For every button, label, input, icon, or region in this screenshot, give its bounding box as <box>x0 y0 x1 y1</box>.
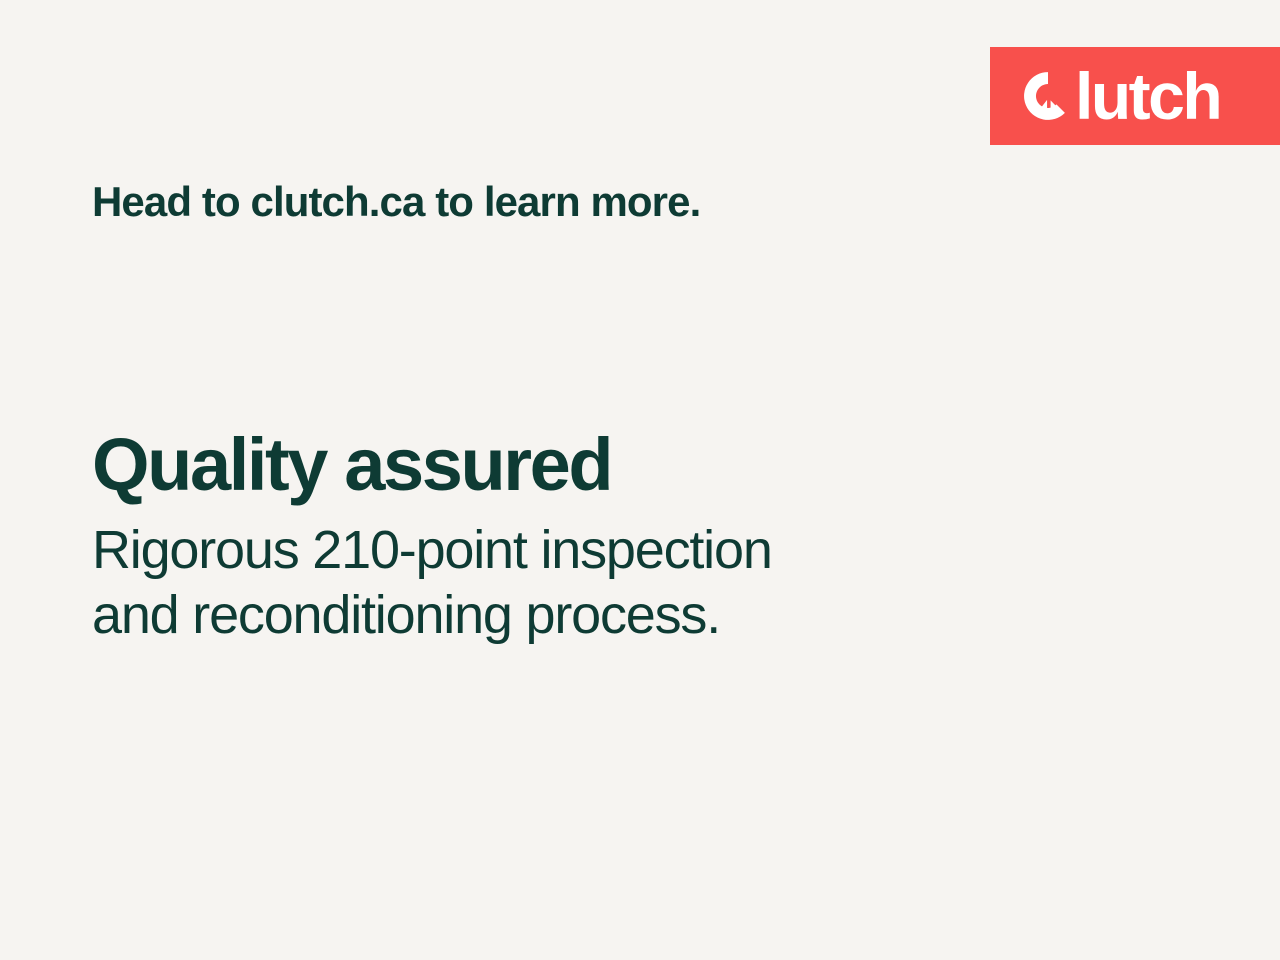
brand-wordmark: lutch <box>1075 69 1220 123</box>
feature-description-line-1: Rigorous 210-point inspection <box>92 518 972 583</box>
feature-description: Rigorous 210-point inspection and recond… <box>92 518 972 648</box>
slide-canvas: lutch Head to clutch.ca to learn more. Q… <box>0 0 1280 960</box>
feature-description-line-2: and reconditioning process. <box>92 583 972 648</box>
feature-block: Quality assured Rigorous 210-point inspe… <box>92 428 1072 648</box>
brand-banner: lutch <box>990 47 1280 145</box>
feature-title: Quality assured <box>92 428 1072 502</box>
lead-line: Head to clutch.ca to learn more. <box>92 178 700 226</box>
brand-logo-lockup[interactable]: lutch <box>1022 67 1220 125</box>
clutch-c-mark-icon <box>1022 70 1074 122</box>
